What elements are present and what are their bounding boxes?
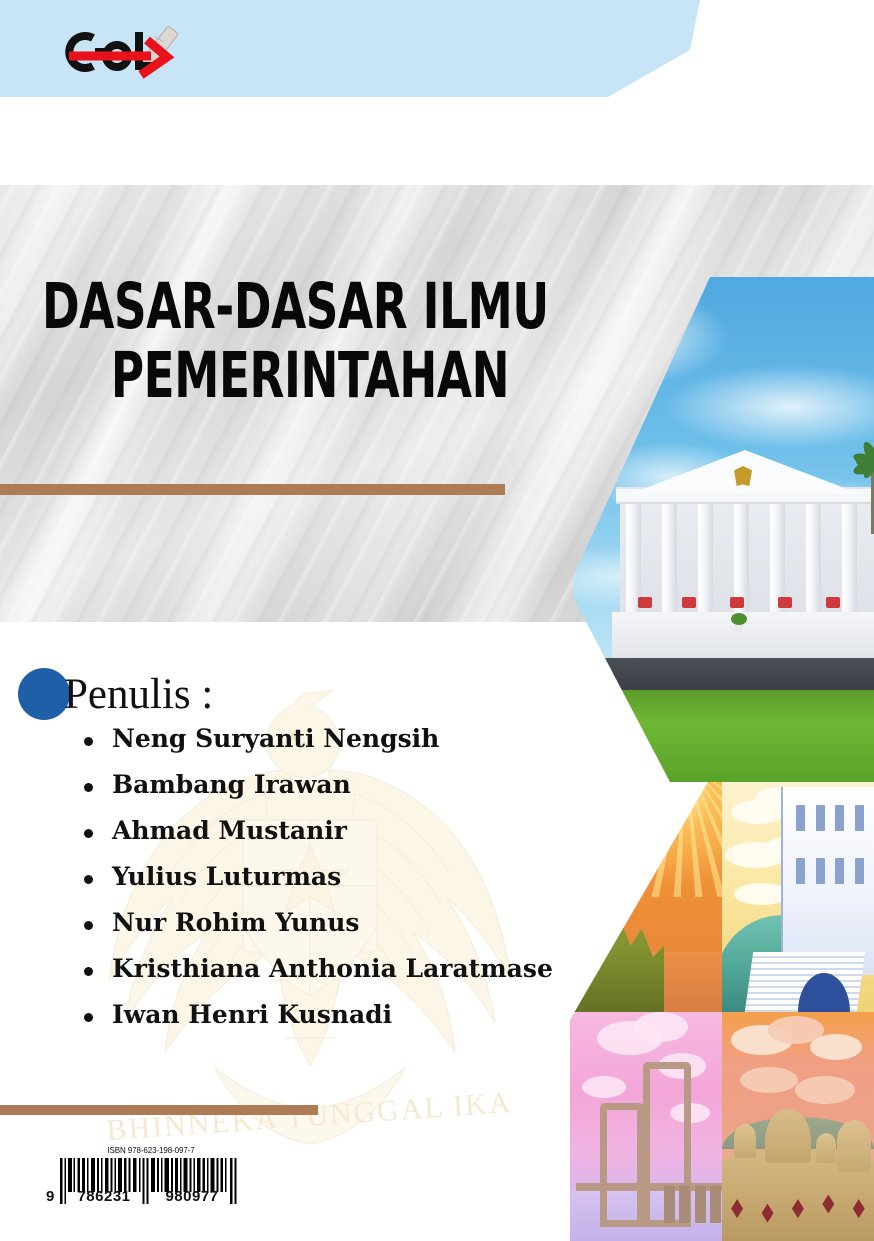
garuda-motto: BHINNEKA TUNGGAL IKA — [105, 1086, 513, 1147]
title-line-1: DASAR-DASAR ILMU — [42, 272, 538, 341]
list-item: Kristhiana Anthonia Laratmase — [80, 956, 618, 981]
isbn-barcode: 9 786231 980977 — [46, 1158, 246, 1204]
buddha-statue — [765, 1109, 811, 1163]
borobudur-temple-illustration — [722, 1012, 874, 1241]
gol-publisher-logo[interactable] — [55, 26, 205, 82]
blue-circle-bullet-icon — [18, 668, 70, 720]
footer-rule — [0, 1105, 318, 1115]
list-item: Yulius Luturmas — [80, 864, 618, 889]
authors-heading: Penulis : — [64, 673, 213, 716]
palace-building — [612, 443, 874, 658]
page-title: DASAR-DASAR ILMU PEMERINTAHAN — [0, 272, 600, 411]
list-item: Bambang Irawan — [80, 772, 618, 797]
list-item: Iwan Henri Kusnadi — [80, 1002, 618, 1027]
palace-colonnade — [620, 494, 874, 612]
authors-heading-row: Penulis : — [18, 668, 618, 720]
gol-wordmark — [69, 32, 155, 68]
planter — [730, 612, 748, 632]
author-list: Neng Suryanti Nengsih Bambang Irawan Ahm… — [18, 726, 618, 1027]
isbn-block: ISBN 978-623-198-097-7 — [46, 1146, 246, 1204]
isbn-label: ISBN 978-623-198-097-7 — [46, 1146, 246, 1155]
list-item: Ahmad Mustanir — [80, 818, 618, 843]
list-item: Neng Suryanti Nengsih — [80, 726, 618, 751]
book-cover: DASAR-DASAR ILMU PEMERINTAHAN — [0, 0, 874, 1241]
title-underline-rule — [0, 484, 505, 495]
colonial-building-illustration — [722, 782, 874, 1012]
barcode-left-group: 786231 — [60, 1188, 148, 1205]
barcode-lead-digit: 9 — [46, 1188, 60, 1205]
authors-block: Penulis : Neng Suryanti Nengsih Bambang … — [18, 668, 618, 1048]
barcode-digits: 9 786231 980977 — [46, 1188, 246, 1205]
title-line-2: PEMERINTAHAN — [78, 341, 542, 410]
barcode-right-group: 980977 — [148, 1188, 236, 1205]
list-item: Nur Rohim Yunus — [80, 910, 618, 935]
palm-tree — [848, 438, 874, 534]
